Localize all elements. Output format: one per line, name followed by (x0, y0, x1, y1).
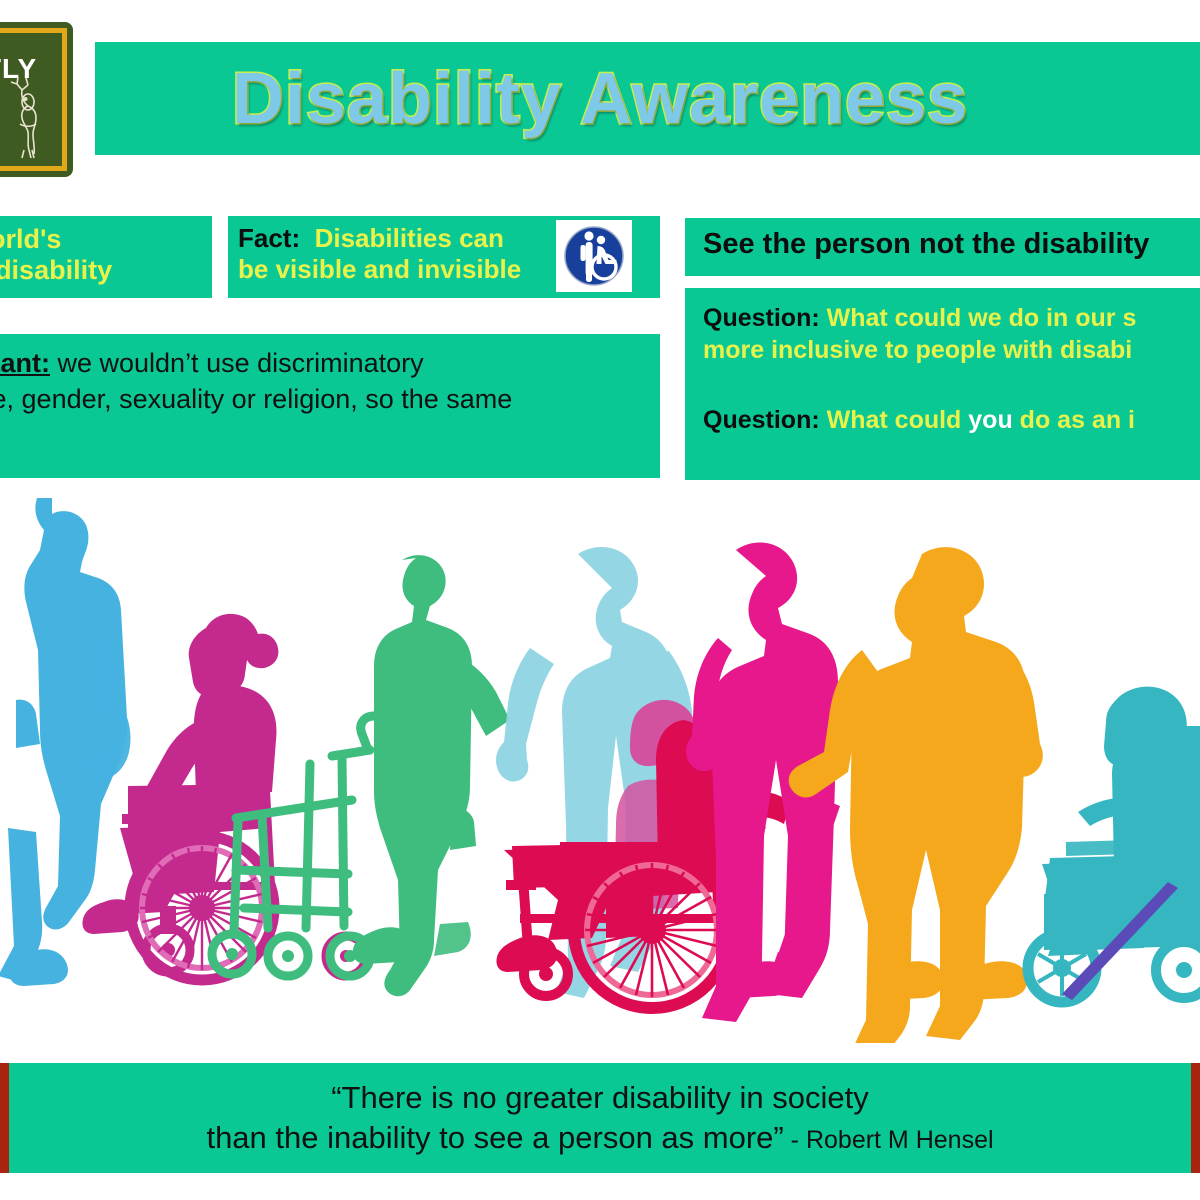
stat-line-2: ave a disability (0, 255, 202, 286)
fact-text-1: Disabilities can (315, 223, 504, 253)
fact-text-2: be visible and invisible (238, 254, 521, 284)
quote-accent-bar-right (1191, 1063, 1200, 1173)
important-line-1: mportant: we wouldn’t use discriminatory (0, 346, 646, 382)
see-person-text: See the person not the disability (703, 228, 1200, 261)
important-box: mportant: we wouldn’t use discriminatory… (0, 334, 660, 478)
stat-box: the world's ave a disability (0, 216, 212, 298)
fact-label: Fact: (238, 223, 300, 253)
question-1-label: Question: (703, 304, 820, 332)
quote-box: “There is no greater disability in socie… (8, 1063, 1192, 1173)
important-label: mportant: (0, 348, 50, 378)
quote-line-2-row: than the inability to see a person as mo… (206, 1118, 993, 1158)
question-1-line-2: more inclusive to people with disabi (703, 336, 1132, 364)
question-1-line-1: What could we do in our s (827, 304, 1137, 332)
important-line-1-rest: we wouldn’t use discriminatory (50, 348, 424, 378)
poster-header: Disability Awareness TLY S (0, 0, 1200, 190)
question-2-part-2: do as an i (1013, 406, 1135, 434)
accessibility-icon-svg (556, 220, 632, 292)
stag-emblem-icon (4, 72, 52, 160)
question-1: Question: What could we do in our s (703, 302, 1200, 334)
poster-page: Disability Awareness TLY S (0, 0, 1200, 1200)
logo-inner-border: TLY S (0, 28, 67, 171)
question-2-label: Question: (703, 406, 820, 434)
quote-line-1: “There is no greater disability in socie… (331, 1078, 869, 1118)
stat-line-1: the world's (0, 224, 202, 255)
question-2-part-1: What could (827, 406, 969, 434)
silhouette-illustration (0, 498, 1200, 1043)
see-person-box: See the person not the disability (685, 218, 1200, 276)
school-crest-logo: TLY S (0, 22, 73, 177)
quote-section: “There is no greater disability in socie… (0, 1063, 1200, 1173)
questions-box: Question: What could we do in our s more… (685, 288, 1200, 480)
quote-attribution: - Robert M Hensel (784, 1126, 994, 1154)
question-2: Question: What could you do as an i (703, 404, 1200, 436)
quote-line-2: than the inability to see a person as mo… (206, 1120, 783, 1155)
important-line-3: bilities (0, 417, 646, 453)
question-1-line-2-row: more inclusive to people with disabi (703, 334, 1200, 366)
quote-accent-bar-left (0, 1063, 9, 1173)
wheelchair-wheel-red (574, 852, 730, 1008)
important-line-2: ut race, gender, sexuality or religion, … (0, 382, 646, 418)
question-2-highlight: you (968, 406, 1012, 434)
accessibility-icon (556, 220, 632, 292)
page-title: Disability Awareness (95, 42, 1105, 155)
silhouette-illustration-svg (0, 498, 1200, 1043)
